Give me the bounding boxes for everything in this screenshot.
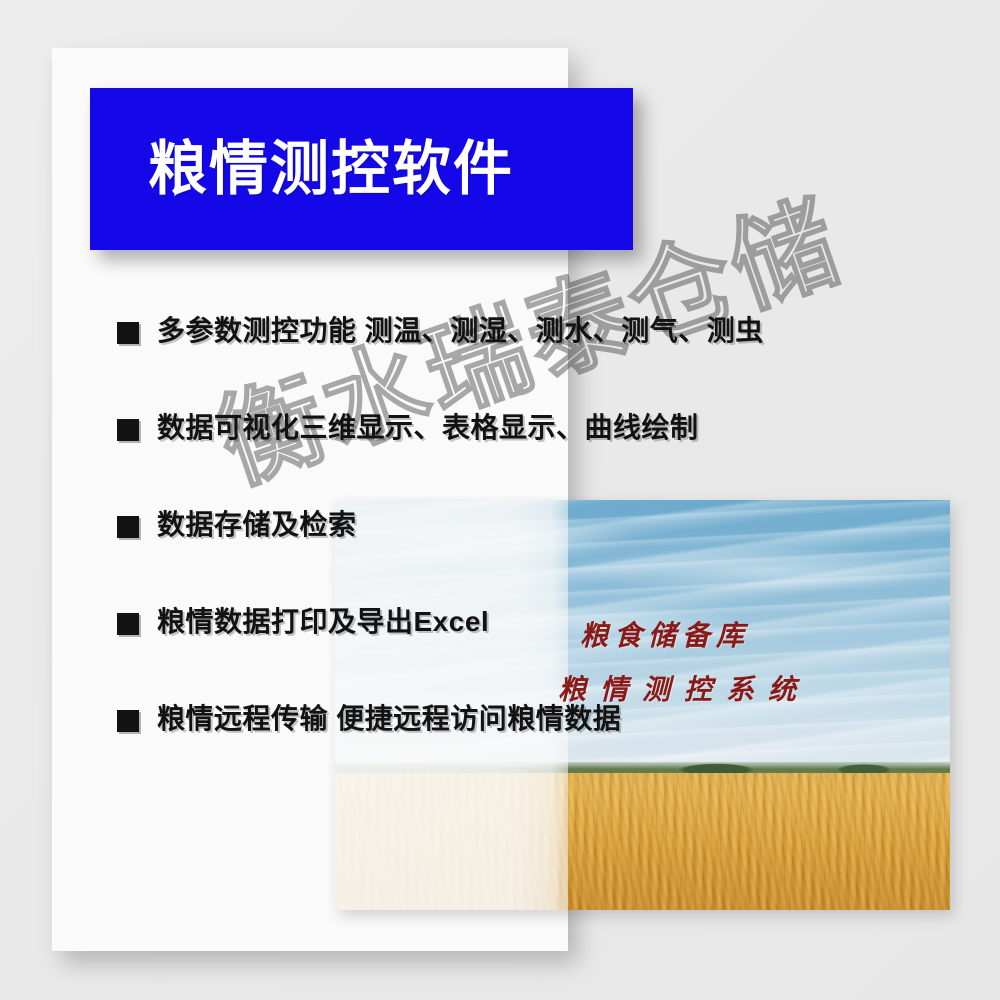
list-item: 数据可视化三维显示、表格显示、曲线绘制 [117, 409, 977, 506]
list-item: 粮情远程传输 便捷远程访问粮情数据 [117, 700, 977, 797]
bullet-square-icon [117, 710, 139, 732]
bullet-square-icon [117, 419, 139, 441]
feature-list: 多参数测控功能 测温、测湿、测水、测气、测虫 数据可视化三维显示、表格显示、曲线… [117, 312, 977, 797]
feature-label: 数据可视化三维显示、表格显示、曲线绘制 [157, 409, 699, 447]
title-banner: 粮情测控软件 [90, 88, 633, 250]
feature-label: 多参数测控功能 测温、测湿、测水、测气、测虫 [157, 312, 764, 350]
list-item: 多参数测控功能 测温、测湿、测水、测气、测虫 [117, 312, 977, 409]
bullet-square-icon [117, 613, 139, 635]
bullet-square-icon [117, 516, 139, 538]
bullet-square-icon [117, 322, 139, 344]
feature-label: 粮情数据打印及导出Excel [157, 603, 489, 641]
feature-label: 粮情远程传输 便捷远程访问粮情数据 [157, 700, 621, 738]
list-item: 粮情数据打印及导出Excel [117, 603, 977, 700]
page-title: 粮情测控软件 [148, 140, 514, 199]
feature-label: 数据存储及检索 [157, 506, 357, 544]
poster-root: 粮食储备库 粮情测控系统 衡水瑞泰仓储 粮情测控软件 多参数测控功能 测温、测湿… [0, 0, 1000, 1000]
list-item: 数据存储及检索 [117, 506, 977, 603]
